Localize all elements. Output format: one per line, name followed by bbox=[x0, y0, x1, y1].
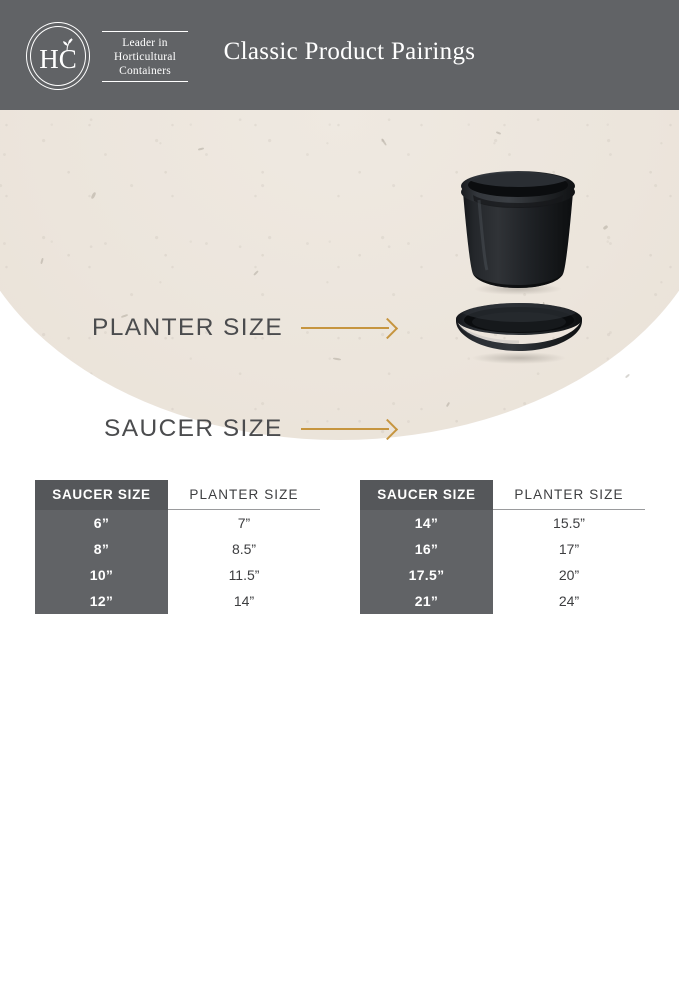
cell-planter-size: 17” bbox=[493, 536, 645, 562]
cell-planter-size: 20” bbox=[493, 562, 645, 588]
table-header-separator bbox=[35, 988, 168, 990]
cell-saucer-size: 12” bbox=[35, 588, 168, 614]
table-row: 12” 14” bbox=[35, 588, 320, 614]
table-row: 16” 17” bbox=[360, 536, 645, 562]
table-header-separator bbox=[360, 988, 493, 990]
table-row: 6” 7” bbox=[35, 510, 320, 537]
arrow-head bbox=[377, 418, 398, 439]
saucer-illustration bbox=[452, 302, 586, 364]
cell-saucer-size: 6” bbox=[35, 510, 168, 537]
column-header-planter-size: PLANTER SIZE bbox=[493, 480, 645, 510]
cell-planter-size: 24” bbox=[493, 588, 645, 614]
callout-planter-label: PLANTER SIZE bbox=[92, 314, 283, 342]
column-header-saucer-size: SAUCER SIZE bbox=[360, 480, 493, 510]
callout-planter-size: PLANTER SIZE bbox=[92, 314, 395, 342]
page-header: HC Leader in Horticultural Containers Cl… bbox=[0, 0, 679, 110]
cell-planter-size: 15.5” bbox=[493, 510, 645, 537]
arrow-right-icon bbox=[301, 319, 395, 337]
cell-saucer-size: 8” bbox=[35, 536, 168, 562]
table-row: 17.5” 20” bbox=[360, 562, 645, 588]
callout-saucer-size: SAUCER SIZE bbox=[104, 415, 395, 440]
cell-saucer-size: 14” bbox=[360, 510, 493, 537]
table-row: 8” 8.5” bbox=[35, 536, 320, 562]
cell-saucer-size: 17.5” bbox=[360, 562, 493, 588]
callout-saucer-label: SAUCER SIZE bbox=[104, 415, 283, 440]
cell-saucer-size: 10” bbox=[35, 562, 168, 588]
table-row: 21” 24” bbox=[360, 588, 645, 614]
planter-illustration bbox=[443, 170, 593, 295]
table-row: 14” 15.5” bbox=[360, 510, 645, 537]
column-header-saucer-size: SAUCER SIZE bbox=[35, 480, 168, 510]
cell-planter-size: 11.5” bbox=[168, 562, 320, 588]
cell-saucer-size: 16” bbox=[360, 536, 493, 562]
cell-planter-size: 7” bbox=[168, 510, 320, 537]
page-title: Classic Product Pairings bbox=[0, 38, 679, 66]
table-small-sizes: SAUCER SIZE PLANTER SIZE 6” 7” 8” 8.5” 1… bbox=[35, 480, 320, 614]
arrow-head bbox=[377, 317, 398, 338]
table-header-row: SAUCER SIZE PLANTER SIZE bbox=[360, 480, 645, 510]
hero-section: PLANTER SIZE SAUCER SIZE bbox=[0, 110, 679, 440]
table-header-row: SAUCER SIZE PLANTER SIZE bbox=[35, 480, 320, 510]
arrow-shaft bbox=[301, 428, 389, 430]
cell-planter-size: 14” bbox=[168, 588, 320, 614]
column-header-planter-size: PLANTER SIZE bbox=[168, 480, 320, 510]
cell-saucer-size: 21” bbox=[360, 588, 493, 614]
cell-planter-size: 8.5” bbox=[168, 536, 320, 562]
table-row: 10” 11.5” bbox=[35, 562, 320, 588]
table-large-sizes: SAUCER SIZE PLANTER SIZE 14” 15.5” 16” 1… bbox=[360, 480, 645, 614]
size-chart-tables: SAUCER SIZE PLANTER SIZE 6” 7” 8” 8.5” 1… bbox=[0, 480, 679, 636]
arrow-right-icon bbox=[301, 420, 395, 438]
texture-speck bbox=[625, 374, 630, 379]
